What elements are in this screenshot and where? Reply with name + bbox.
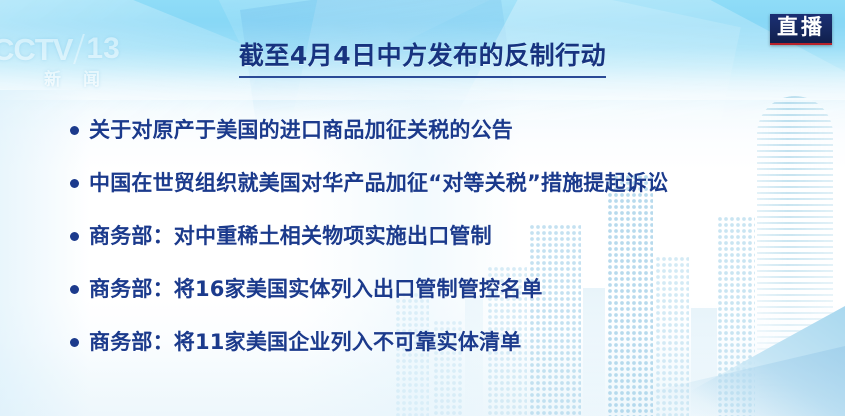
list-item: 商务部：对中重稀土相关物项实施出口管制 bbox=[70, 210, 830, 263]
bullet-list: 关于对原产于美国的进口商品加征关税的公告 中国在世贸组织就美国对华产品加征“对等… bbox=[70, 104, 830, 369]
bullet-dot-icon bbox=[70, 126, 79, 135]
bullet-dot-icon bbox=[70, 179, 79, 188]
list-item: 商务部：将11家美国企业列入不可靠实体清单 bbox=[70, 316, 830, 369]
headline-container: 截至4月4日中方发布的反制行动 bbox=[0, 42, 845, 78]
list-item: 商务部：将16家美国实体列入出口管制管控名单 bbox=[70, 263, 830, 316]
live-badge-label: 直播 bbox=[777, 15, 825, 39]
list-item-label: 中国在世贸组织就美国对华产品加征“对等关税”措施提起诉讼 bbox=[89, 171, 668, 195]
page-title: 截至4月4日中方发布的反制行动 bbox=[239, 42, 606, 78]
list-item-label: 商务部：将11家美国企业列入不可靠实体清单 bbox=[89, 330, 521, 354]
bullet-dot-icon bbox=[70, 285, 79, 294]
list-item: 中国在世贸组织就美国对华产品加征“对等关税”措施提起诉讼 bbox=[70, 157, 830, 210]
list-item-label: 商务部：对中重稀土相关物项实施出口管制 bbox=[89, 224, 492, 248]
list-item-label: 关于对原产于美国的进口商品加征关税的公告 bbox=[89, 118, 513, 142]
live-badge: 直播 bbox=[770, 14, 832, 45]
bullet-dot-icon bbox=[70, 232, 79, 241]
list-item: 关于对原产于美国的进口商品加征关税的公告 bbox=[70, 104, 830, 157]
broadcast-graphic-frame: CCTV 13 新 闻 直播 截至4月4日中方发布的反制行动 关于对原产于美国的… bbox=[0, 0, 845, 416]
list-item-label: 商务部：将16家美国实体列入出口管制管控名单 bbox=[89, 277, 543, 301]
bullet-dot-icon bbox=[70, 338, 79, 347]
